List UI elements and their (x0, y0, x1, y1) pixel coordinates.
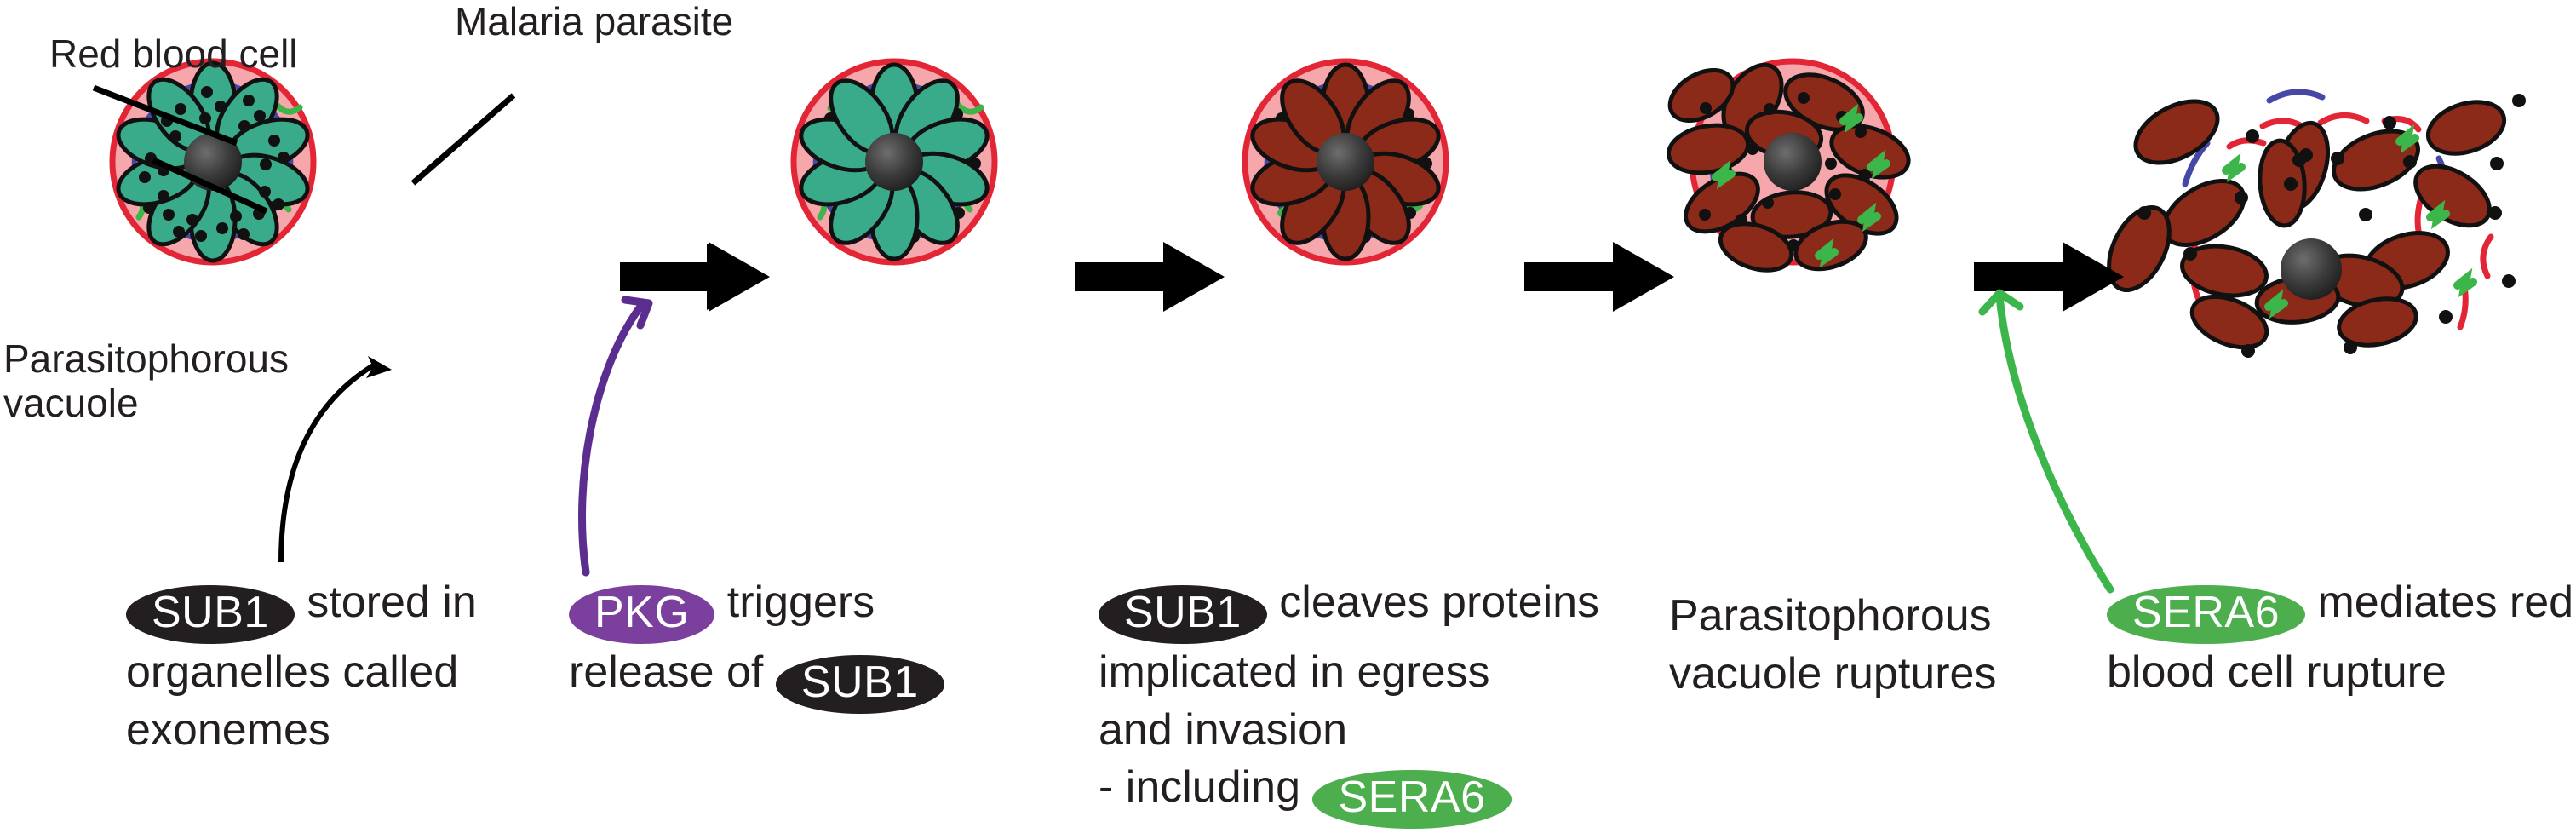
annotation-malaria-parasite: Malaria parasite (455, 0, 733, 44)
caption-step-2: PKG triggers release of SUB1 (569, 574, 944, 714)
annotation-parasitophorous-vacuole: Parasitophorous vacuole (3, 337, 289, 425)
stage-5-rbc-ruptured (2097, 89, 2526, 358)
caption-step-5-line-1: mediates red (2317, 578, 2573, 627)
figure-canvas: Red blood cell Malaria parasite Parasito… (0, 0, 2576, 839)
leader-line-malaria-parasite (413, 95, 513, 183)
transition-arrow-2 (1075, 242, 1225, 312)
caption-step-5: SERA6 mediates red blood cell rupture (2107, 574, 2573, 702)
badge-sub1[interactable]: SUB1 (126, 585, 295, 644)
badge-sub1-3[interactable]: SUB1 (1099, 585, 1267, 644)
pkg-pointer-arrow (582, 300, 649, 572)
caption-step-1: SUB1 stored in organelles called exoneme… (126, 574, 477, 759)
badge-sub1-2[interactable]: SUB1 (776, 655, 944, 714)
caption-step-5-line-2: blood cell rupture (2107, 644, 2573, 702)
caption-step-3: SUB1 cleaves proteins implicated in egre… (1099, 574, 1599, 829)
caption-step-4-line-2: vacuole ruptures (1669, 646, 1996, 704)
caption-step-3-line-2: implicated in egress (1099, 644, 1599, 702)
caption-step-2-line-2: release of (569, 647, 763, 697)
caption-step-3-line-3: and invasion (1099, 702, 1599, 760)
stage-3-proteins-cleaved (1245, 61, 1446, 262)
transition-arrow-3 (1524, 242, 1674, 312)
stage-1-schizont (112, 61, 314, 262)
annotation-red-blood-cell: Red blood cell (49, 32, 298, 77)
caption-step-4-line-1: Parasitophorous (1669, 588, 1996, 646)
caption-step-4: Parasitophorous vacuole ruptures (1669, 588, 1996, 703)
stage-2-sub1-released (794, 61, 995, 262)
caption-step-2-line-1: triggers (727, 578, 875, 627)
sera6-pointer-arrow (1982, 293, 2110, 589)
badge-pkg[interactable]: PKG (569, 585, 714, 644)
caption-step-1-line-3: exonemes (126, 702, 477, 760)
caption-step-1-line-2: organelles called (126, 644, 477, 702)
badge-sera6-2[interactable]: SERA6 (2107, 585, 2305, 644)
caption-step-1-line-1: stored in (307, 578, 476, 627)
sub1-leader-arrow (281, 356, 392, 562)
stage-4-pv-ruptured (1661, 55, 1916, 279)
badge-sera6[interactable]: SERA6 (1312, 770, 1511, 829)
caption-step-3-line-1: cleaves proteins (1279, 578, 1599, 627)
caption-step-3-line-4: - including (1099, 762, 1300, 812)
